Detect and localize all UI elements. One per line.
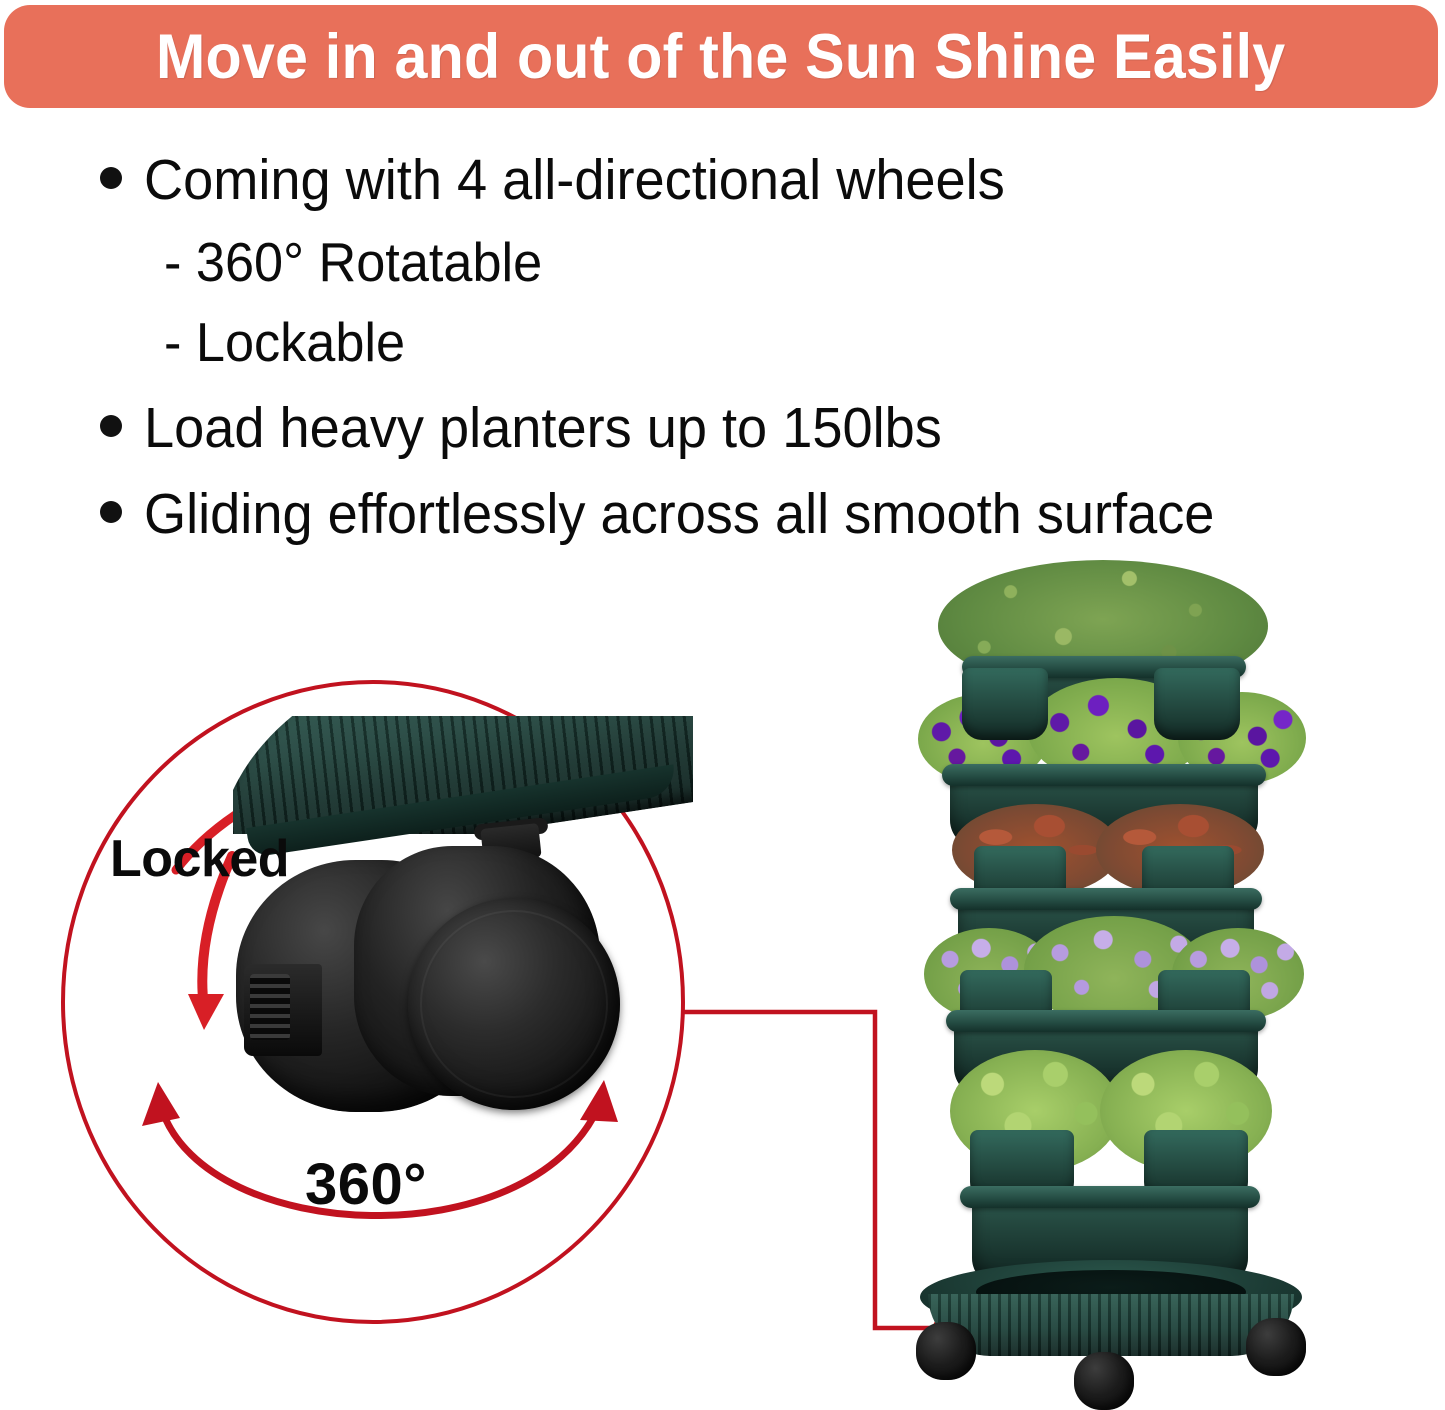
bullet-dot-icon [100, 167, 122, 189]
dolly-caster-front [1074, 1352, 1134, 1410]
feature-list: Coming with 4 all-directional wheels - 3… [100, 143, 1440, 551]
caster-lock-lever [244, 964, 322, 1056]
caster-front-wheel [408, 898, 620, 1110]
list-item: Load heavy planters up to 150lbs [100, 391, 1440, 465]
caster-wheel-assembly [236, 846, 636, 1136]
list-item: Coming with 4 all-directional wheels [100, 143, 1440, 217]
dolly-caster-left [916, 1322, 976, 1380]
locked-label: Locked [110, 829, 289, 889]
banner-title: Move in and out of the Sun Shine Easily [156, 21, 1285, 93]
caster-dolly-base [920, 1260, 1302, 1380]
rotation-label: 360° [305, 1151, 427, 1218]
header-banner: Move in and out of the Sun Shine Easily [4, 5, 1438, 108]
feature-text: - Lockable [164, 305, 405, 379]
list-item: - Lockable [164, 305, 1440, 379]
stacked-planter-product [900, 560, 1320, 1390]
list-item: - 360° Rotatable [164, 225, 1440, 299]
feature-text: Gliding effortlessly across all smooth s… [144, 477, 1214, 551]
dolly-caster-right [1246, 1318, 1306, 1376]
planter-cup-2-right [1154, 668, 1240, 740]
feature-text: Load heavy planters up to 150lbs [144, 391, 942, 465]
planter-tier-2-rim [942, 764, 1266, 786]
feature-text: Coming with 4 all-directional wheels [144, 143, 1005, 217]
list-item: Gliding effortlessly across all smooth s… [100, 477, 1440, 551]
caster-detail-callout [58, 678, 688, 1326]
planter-cup-2-left [962, 668, 1048, 740]
planter-tier-4-rim [946, 1010, 1266, 1032]
bullet-dot-icon [100, 501, 122, 523]
feature-text: - 360° Rotatable [164, 225, 542, 299]
planter-tier-5-rim [960, 1186, 1260, 1208]
bullet-dot-icon [100, 415, 122, 437]
planter-tier-3-rim [950, 888, 1262, 910]
